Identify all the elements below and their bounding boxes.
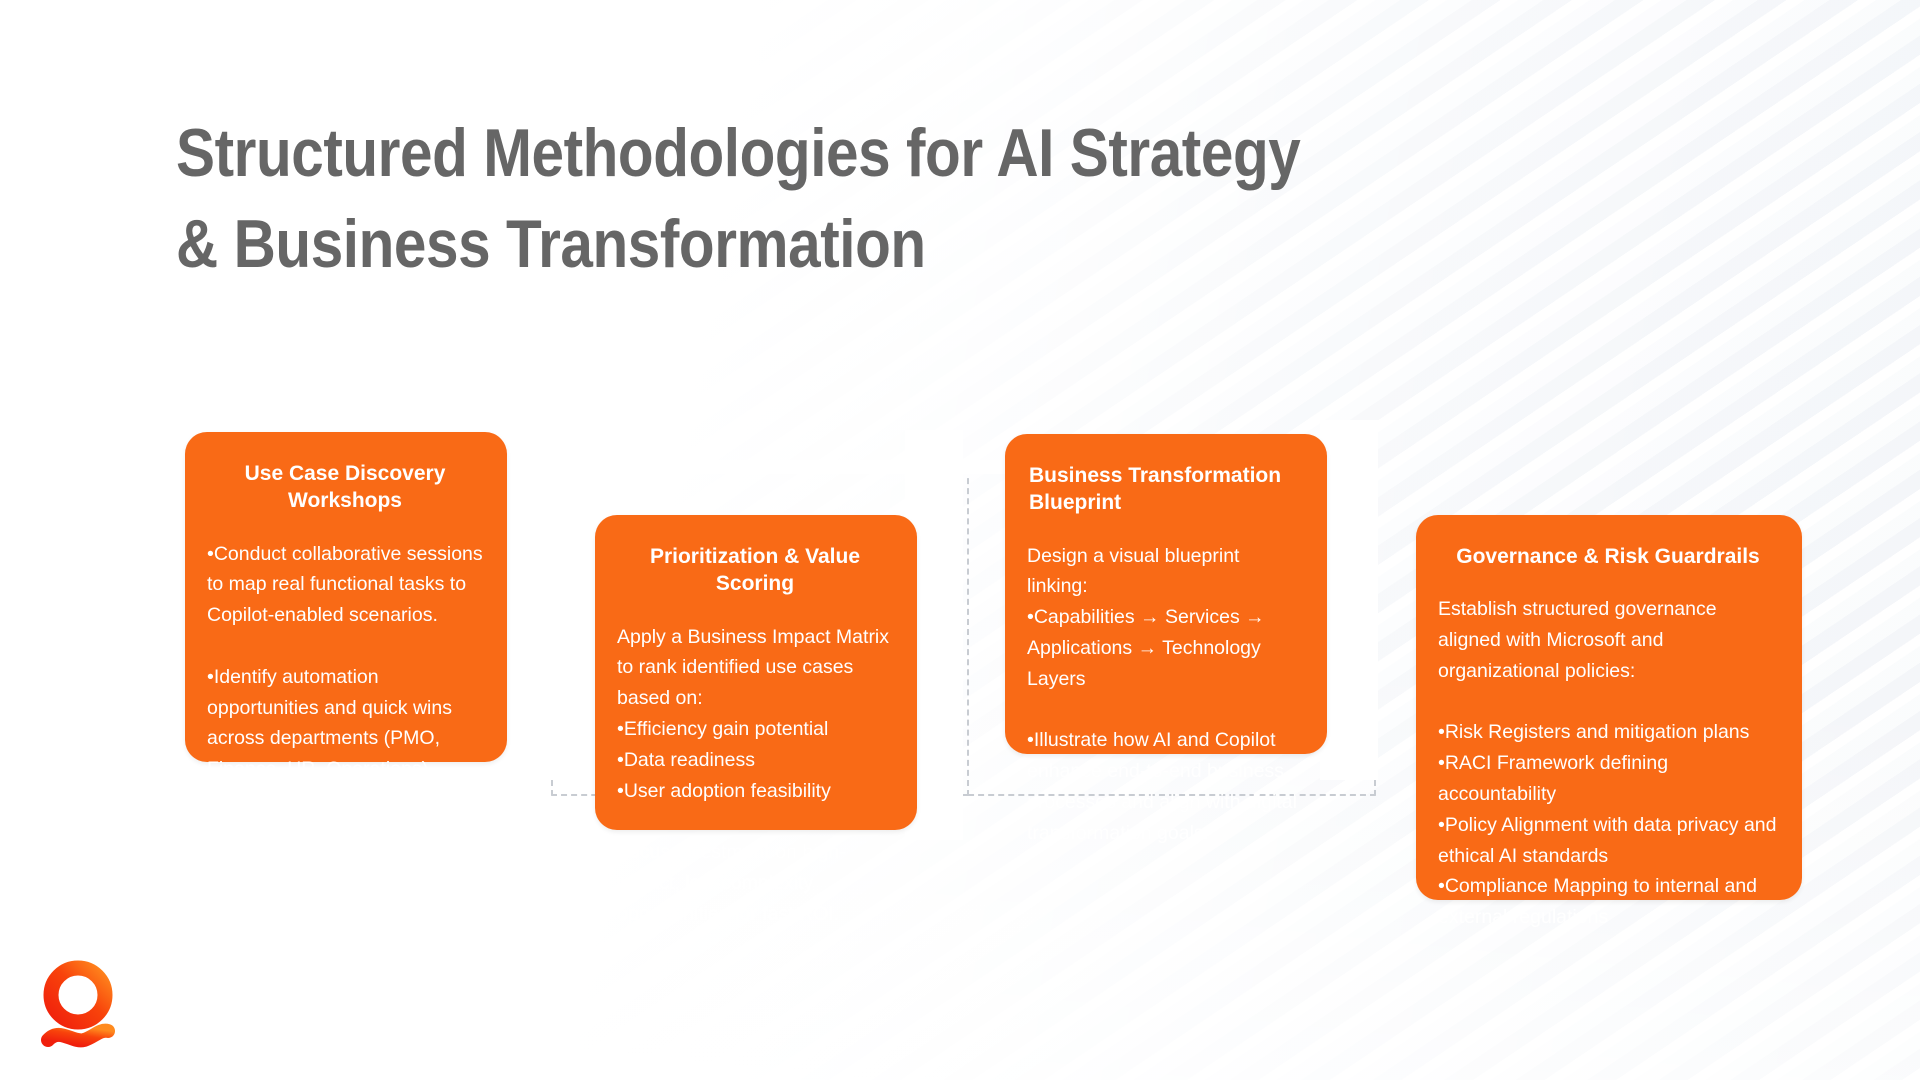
card-title: Use Case Discovery Workshops	[207, 460, 483, 515]
brand-logo	[28, 955, 132, 1059]
card-title: Business Transformation Blueprint	[1027, 462, 1303, 517]
card-business-transformation-blueprint[interactable]: Business Transformation Blueprint Design…	[1005, 434, 1327, 754]
card-governance-risk-guardrails[interactable]: Governance & Risk Guardrails Establish s…	[1416, 515, 1802, 900]
card-title: Governance & Risk Guardrails	[1438, 543, 1778, 570]
card-body: Design a visual blueprint linking: •Capa…	[1027, 541, 1303, 849]
connector-mask-right	[1320, 420, 1378, 780]
slide-canvas: Structured Methodologies for AI Strategy…	[0, 0, 1920, 1080]
card-title: Prioritization & Value Scoring	[617, 543, 893, 598]
card-prioritization-value-scoring[interactable]: Prioritization & Value Scoring Apply a B…	[595, 515, 917, 830]
card-body: •Conduct collaborative sessions to map r…	[207, 539, 483, 785]
q-mark-icon	[28, 955, 132, 1059]
card-body: Apply a Business Impact Matrix to rank i…	[617, 622, 893, 930]
card-body: Establish structured governance aligned …	[1438, 594, 1778, 933]
page-title: Structured Methodologies for AI Strategy…	[176, 108, 1518, 292]
connector-mask-top-a	[551, 460, 971, 474]
card-use-case-discovery-workshops[interactable]: Use Case Discovery Workshops •Conduct co…	[185, 432, 507, 762]
connector-mask-left	[500, 420, 558, 780]
